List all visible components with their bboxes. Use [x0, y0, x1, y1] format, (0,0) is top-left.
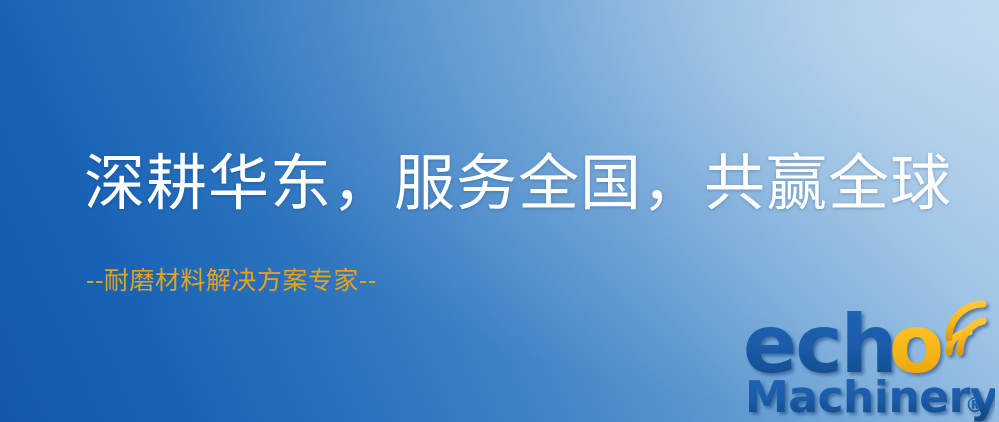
- registered-trademark-icon: ®: [965, 393, 985, 417]
- logo-text-machinery: Machinery: [745, 372, 995, 422]
- banner-subtitle: --耐磨材料解决方案专家--: [86, 266, 377, 296]
- promo-banner: 深耕华东，服务全国，共赢全球 --耐磨材料解决方案专家--: [0, 0, 999, 422]
- echo-machinery-logo[interactable]: ech o Machinery ®: [743, 294, 995, 422]
- banner-headline: 深耕华东，服务全国，共赢全球: [84, 150, 952, 218]
- signal-waves-icon: [949, 304, 983, 352]
